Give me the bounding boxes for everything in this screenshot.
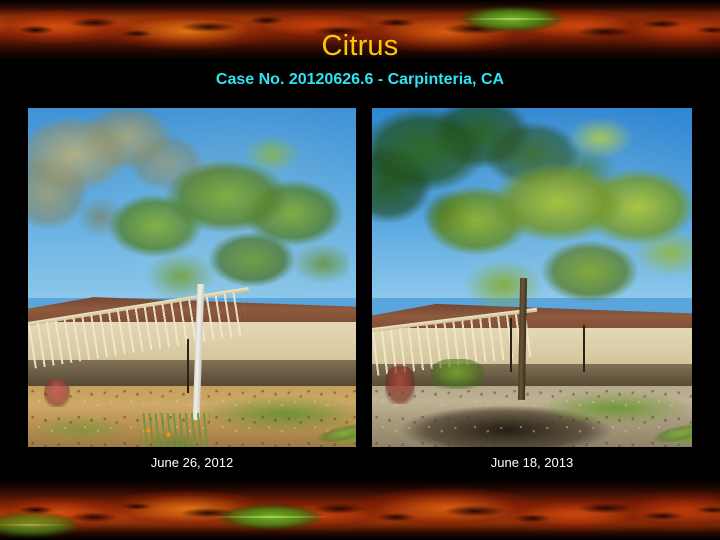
green-leaf-icon bbox=[196, 500, 346, 534]
photo-before[interactable] bbox=[28, 108, 356, 447]
sunlight-wash bbox=[372, 108, 692, 447]
green-leaf-icon bbox=[0, 512, 76, 538]
decorative-border-bottom bbox=[0, 480, 720, 540]
sunlight-wash bbox=[28, 108, 356, 447]
page-subtitle: Case No. 20120626.6 - Carpinteria, CA bbox=[0, 72, 720, 88]
flame-stripe-overlay bbox=[0, 480, 720, 540]
green-leaf-icon bbox=[452, 4, 572, 34]
photo-after[interactable] bbox=[372, 108, 692, 447]
slide: Citrus Case No. 20120626.6 - Carpinteria… bbox=[0, 0, 720, 540]
photo-before-caption: June 26, 2012 bbox=[28, 456, 356, 469]
page-title: Citrus bbox=[0, 32, 720, 61]
photo-after-caption: June 18, 2013 bbox=[372, 456, 692, 469]
flame-pattern-icon bbox=[0, 480, 720, 540]
